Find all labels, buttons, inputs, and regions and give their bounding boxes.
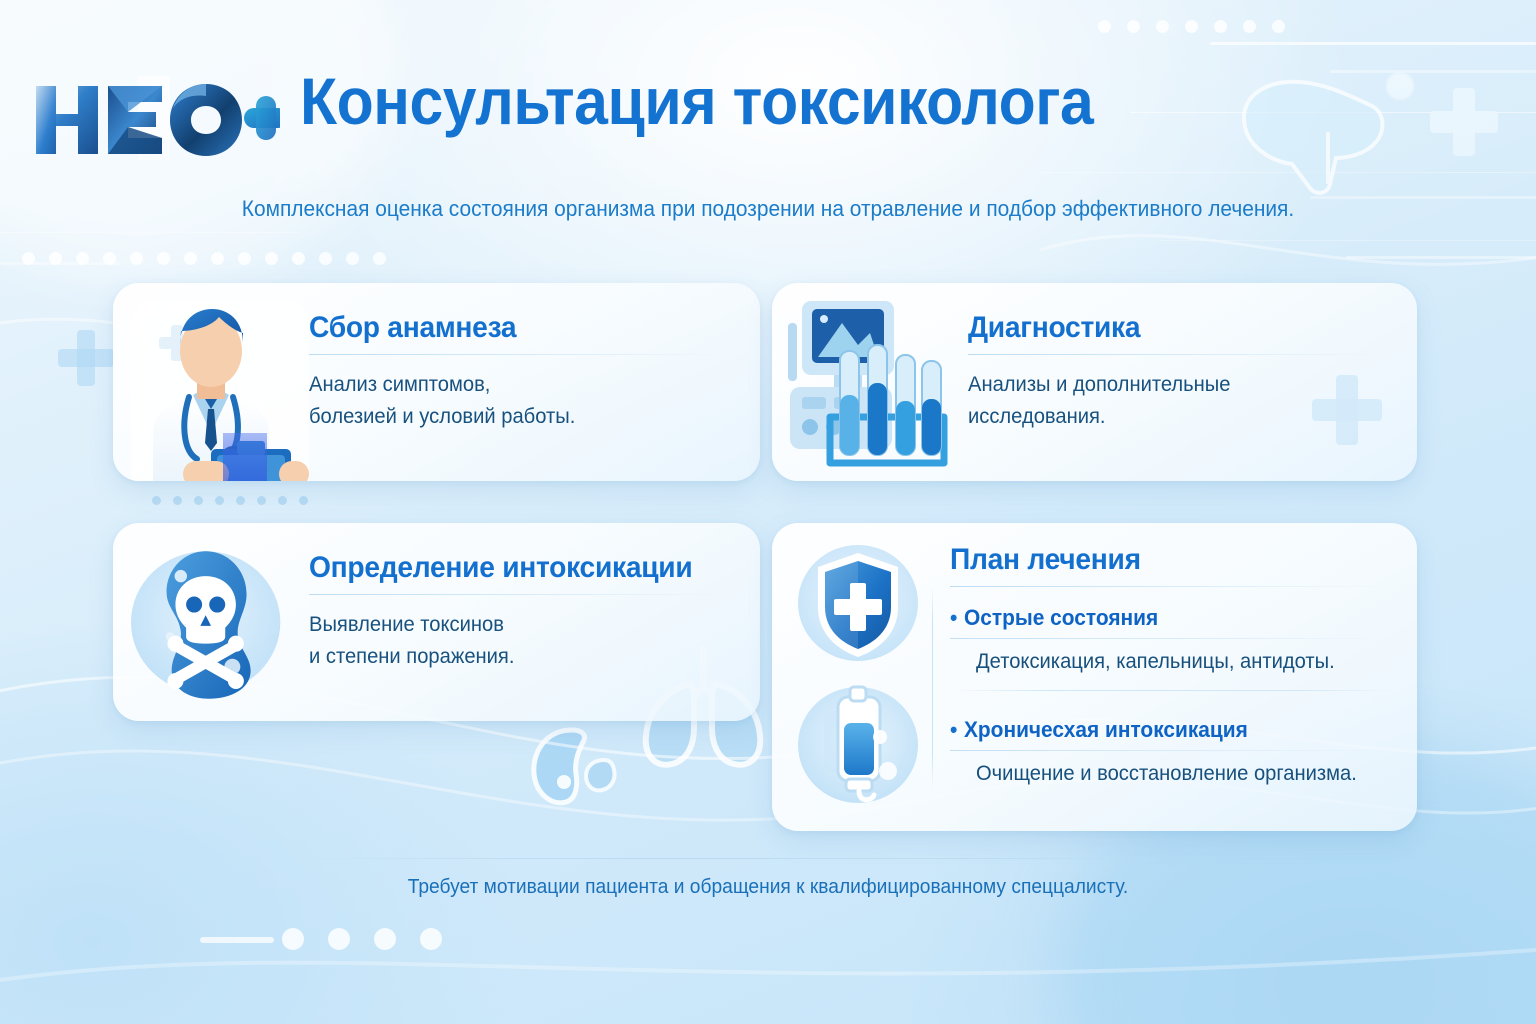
plan-item-chronic-heading: •Хроничесхая интоксикация	[950, 717, 1371, 743]
card-intoxication[interactable]: Определение интоксикации Выявление токси…	[113, 523, 760, 721]
highlight-bar-overlay	[223, 433, 267, 481]
bg-dot-row-upper-left	[22, 252, 386, 265]
shield-cross-icon	[794, 539, 922, 667]
card-intoxication-title: Определение интоксикации	[309, 551, 710, 585]
bg-dot-row-bottom-tail	[200, 937, 274, 943]
iv-drip-icon	[794, 681, 922, 809]
kidney-watermark-icon	[528, 724, 634, 810]
poison-skull-icon	[113, 523, 309, 721]
card-anamnesis-rule	[309, 354, 736, 355]
plan-item-chronic-description: Очищение и восстановление организма.	[976, 762, 1376, 786]
plan-item-acute-heading: •Острые состояния	[950, 605, 1371, 631]
card-anamnesis-text: Анализ симптомов, болезией и условий раб…	[309, 369, 719, 433]
plan-item-acute-heading-text: Острые состояния	[964, 605, 1158, 630]
plan-item-acute-rule	[950, 638, 1393, 639]
lab-equipment-illustration-icon	[772, 283, 968, 481]
card-anamnesis-body: Сбор анамнеза Анализ симптомов, болезией…	[309, 283, 736, 481]
card-treatment-plan[interactable]: План лечения •Острые состояния Детоксика…	[772, 523, 1417, 831]
plan-item-chronic[interactable]: •Хроничесхая интоксикация Очищение и вос…	[950, 717, 1393, 786]
card-treatment-plan-body: План лечения •Острые состояния Детоксика…	[950, 523, 1393, 831]
header: Консультация токсиколога Комплексная оце…	[0, 0, 1536, 250]
card-intoxication-line-1: Выявление токсинов	[309, 609, 719, 641]
footer-divider	[290, 858, 1246, 859]
bullet-icon-acute: •	[950, 605, 957, 630]
card-intoxication-body: Определение интоксикации Выявление токси…	[309, 523, 736, 721]
card-diagnostics-text: Анализы и дополнительные исследования.	[968, 369, 1376, 433]
card-diagnostics-line-1: Анализы и дополнительные	[968, 369, 1376, 401]
card-treatment-plan-title: План лечения	[950, 543, 1366, 577]
footer-note: Требует мотивации пациента и обращения к…	[31, 876, 1506, 899]
card-treatment-plan-rule	[950, 586, 1393, 587]
bg-streak-7	[1346, 256, 1536, 259]
card-intoxication-text: Выявление токсинов и степени поражения.	[309, 609, 719, 673]
card-diagnostics-title: Диагностика	[968, 311, 1368, 345]
plan-vertical-rule	[932, 585, 933, 789]
infographic-page: Консультация токсиколога Комплексная оце…	[0, 0, 1536, 1024]
brand-logo-neo-plus	[30, 72, 280, 164]
card-diagnostics-body: Диагностика Анализы и дополнительные исс…	[968, 283, 1393, 481]
bg-streak-left-2	[0, 262, 120, 265]
bg-dot-row-doctor	[152, 496, 308, 505]
plan-item-chronic-heading-text: Хроничесхая интоксикация	[964, 717, 1248, 742]
card-anamnesis[interactable]: Сбор анамнеза Анализ симптомов, болезией…	[113, 283, 760, 481]
plan-item-chronic-rule	[950, 750, 1393, 751]
page-title: Консультация токсиколога	[300, 68, 1093, 134]
card-diagnostics-rule	[968, 354, 1393, 355]
card-intoxication-rule	[309, 594, 736, 595]
page-subtitle: Комплексная оценка состояния организма п…	[38, 196, 1497, 222]
card-anamnesis-title: Сбор анамнеза	[309, 311, 710, 345]
cross-icon-bg-left-upper	[58, 330, 114, 386]
card-diagnostics[interactable]: Диагностика Анализы и дополнительные исс…	[772, 283, 1417, 481]
card-diagnostics-line-2: исследования.	[968, 401, 1376, 433]
card-anamnesis-line-1: Анализ симптомов,	[309, 369, 719, 401]
card-intoxication-line-2: и степени поражения.	[309, 641, 719, 673]
plan-item-acute[interactable]: •Острые состояния Детоксикация, капельни…	[950, 605, 1393, 674]
bullet-icon-chronic: •	[950, 717, 957, 742]
bg-dot-row-bottom	[282, 928, 442, 950]
doctor-illustration-icon	[113, 283, 309, 481]
card-anamnesis-line-2: болезией и условий работы.	[309, 401, 719, 433]
plan-separator	[950, 690, 1393, 691]
plan-item-acute-description: Детоксикация, капельницы, антидоты.	[976, 650, 1376, 674]
